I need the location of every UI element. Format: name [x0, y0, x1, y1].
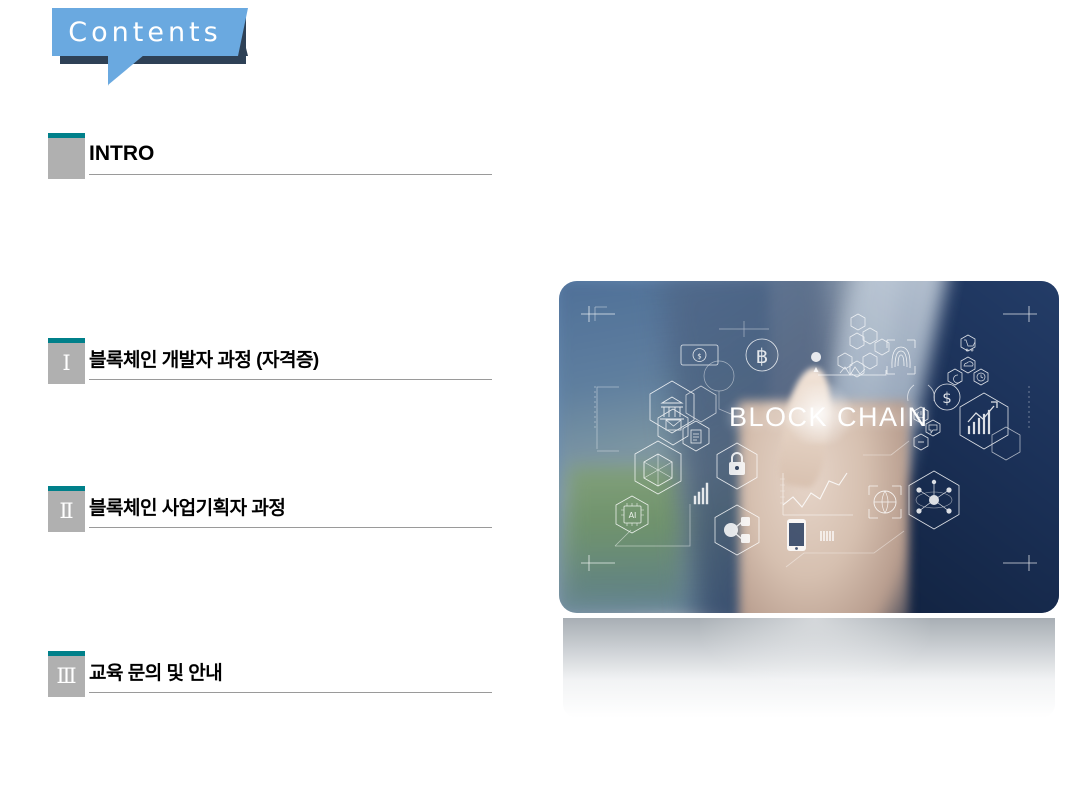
corner-bracket-tl — [581, 306, 615, 322]
document-icon — [683, 421, 709, 451]
toc-numeral: Ⅱ — [48, 491, 85, 532]
share-nodes-icon — [715, 505, 759, 555]
contents-banner: Contents — [52, 8, 292, 88]
image-overlay-title: BLOCK CHAIN — [729, 402, 929, 433]
toc-numeral — [48, 138, 85, 179]
globe-icon — [869, 486, 901, 518]
banner-title: Contents — [52, 8, 238, 56]
line-graph-icon — [780, 473, 853, 515]
svg-text:AI: AI — [629, 511, 637, 520]
svg-text:฿: ฿ — [756, 344, 769, 368]
hex-outline-right — [686, 386, 716, 422]
toc-underline — [89, 379, 492, 380]
fingerprint-icon — [887, 340, 915, 374]
toc-item-blockchain-developer[interactable]: Ⅰ 블록체인 개발자 과정 (자격증) — [48, 338, 492, 384]
toc-label: 교육 문의 및 안내 — [89, 651, 222, 692]
ai-chip-icon: AI — [616, 496, 648, 533]
svg-text:$: $ — [697, 353, 701, 361]
banner-tail — [108, 55, 144, 85]
blockchain-hero-image: $ ฿ — [559, 281, 1059, 613]
cloud-icon — [961, 357, 975, 373]
smartphone-icon — [787, 519, 806, 551]
lock-icon — [717, 443, 757, 489]
corner-bracket-bl — [581, 555, 615, 571]
toc-label: 블록체인 사업기획자 과정 — [89, 486, 285, 527]
shopping-cart-icon — [961, 335, 975, 351]
bar-chart-icon — [695, 484, 707, 503]
toc-label: INTRO — [89, 133, 154, 174]
banner-bevel — [238, 8, 248, 56]
bitcoin-icon: ฿ — [746, 339, 778, 371]
atom-network-icon — [909, 471, 959, 529]
svg-text:$: $ — [942, 389, 952, 407]
refresh-icon — [948, 369, 962, 385]
image-reflection-glow — [700, 618, 930, 688]
toc-numeral: Ⅲ — [48, 656, 85, 697]
toc-label: 블록체인 개발자 과정 (자격증) — [89, 338, 319, 379]
hud-overlay: $ ฿ — [559, 281, 1059, 613]
toc-underline — [89, 692, 492, 693]
minus-hex-icon — [914, 434, 928, 450]
toc-numeral: Ⅰ — [48, 343, 85, 384]
barcode-icon — [821, 531, 833, 541]
chart-growth-icon — [960, 393, 1020, 460]
corner-bracket-tr — [1003, 306, 1037, 322]
banknote-dollar-icon: $ — [681, 345, 718, 365]
toc-item-education-inquiry[interactable]: Ⅲ 교육 문의 및 안내 — [48, 651, 492, 697]
toc-underline — [89, 527, 492, 528]
toc-underline — [89, 174, 492, 175]
corner-bracket-br — [1003, 555, 1037, 571]
clock-icon — [974, 369, 988, 385]
cube-3d-icon — [635, 441, 681, 494]
dollar-circle-icon: $ — [934, 384, 960, 410]
emoji-network-icon — [838, 314, 889, 377]
toc-item-blockchain-business-planner[interactable]: Ⅱ 블록체인 사업기획자 과정 — [48, 486, 492, 532]
toc-item-intro[interactable]: INTRO — [48, 133, 492, 179]
